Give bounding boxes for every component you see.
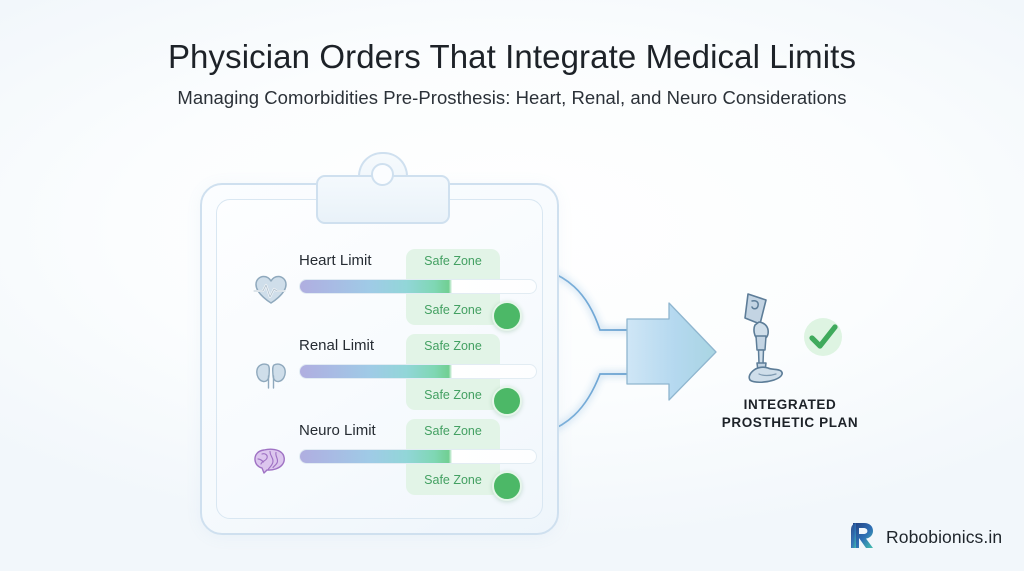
limit-row-label: Heart Limit — [299, 252, 372, 269]
clipboard-clip-hole — [371, 163, 394, 186]
outcome-caption-line-2: PROSTHETIC PLAN — [690, 414, 890, 432]
safe-zone-label-bottom: Safe Zone — [406, 303, 500, 317]
page-title: Physician Orders That Integrate Medical … — [0, 38, 1024, 77]
outcome-artwork — [690, 288, 890, 386]
brand-logo-text: Robobionics.in — [886, 527, 1002, 548]
safe-zone-label-top: Safe Zone — [406, 424, 500, 438]
brain-icon — [251, 440, 291, 480]
limit-slider-track[interactable] — [299, 279, 537, 294]
limit-slider-track[interactable] — [299, 449, 537, 464]
safe-zone-label-bottom: Safe Zone — [406, 473, 500, 487]
limit-row-label: Neuro Limit — [299, 422, 376, 439]
limit-row-heart: Heart Limit Safe Zone Safe Zone — [251, 252, 541, 322]
limit-slider-track[interactable] — [299, 364, 537, 379]
prosthetic-leg-icon — [732, 288, 802, 391]
limit-row-label: Renal Limit — [299, 337, 374, 354]
slide-canvas: Physician Orders That Integrate Medical … — [0, 0, 1024, 571]
green-check-icon — [800, 314, 846, 360]
safe-zone-label-bottom: Safe Zone — [406, 388, 500, 402]
robobionics-r-icon — [848, 520, 878, 555]
limit-row-renal: Renal Limit Safe Zone Safe Zone — [251, 337, 541, 407]
outcome-caption-line-1: INTEGRATED — [690, 396, 890, 414]
safe-zone-label-top: Safe Zone — [406, 254, 500, 268]
clipboard-paper: Heart Limit Safe Zone Safe Zone Renal — [216, 199, 543, 519]
outcome-caption: INTEGRATED PROSTHETIC PLAN — [690, 396, 890, 432]
limit-row-neuro: Neuro Limit Safe Zone Safe Zone — [251, 422, 541, 492]
kidneys-icon — [251, 355, 291, 395]
heart-pulse-icon — [251, 270, 291, 310]
clipboard: Heart Limit Safe Zone Safe Zone Renal — [200, 183, 559, 535]
page-subtitle: Managing Comorbidities Pre-Prosthesis: H… — [0, 87, 1024, 109]
outcome-block: INTEGRATED PROSTHETIC PLAN — [690, 288, 890, 432]
brand-logo[interactable]: Robobionics.in — [848, 520, 1002, 555]
safe-zone-label-top: Safe Zone — [406, 339, 500, 353]
header: Physician Orders That Integrate Medical … — [0, 38, 1024, 109]
